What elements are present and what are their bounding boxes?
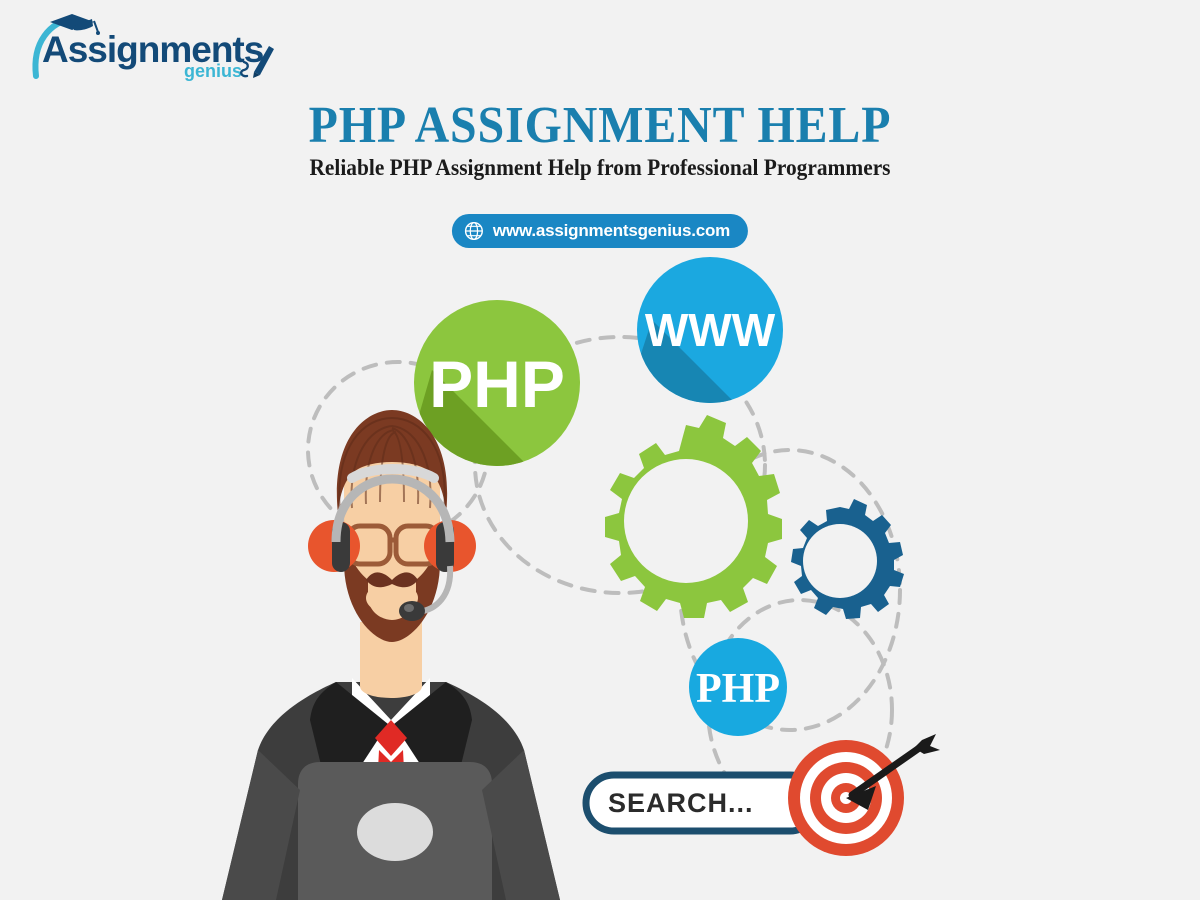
php-blue-label: PHP [696,666,780,712]
gear-large-green [605,415,782,618]
support-agent-php-illustration: PHP WWW [0,250,1200,900]
php-blue-circle: PHP [689,638,787,736]
www-label: WWW [645,304,776,356]
assignments-genius-logo[interactable]: Assignments genius [22,6,282,84]
globe-icon [464,221,484,241]
support-agent-character [222,410,560,900]
search-bar[interactable]: SEARCH... [586,775,818,831]
laptop-logo [357,803,433,861]
page-title: PHP ASSIGNMENT HELP [48,96,1152,155]
poster-canvas: Assignments genius PHP ASSIGNMENT HELP R… [0,0,1200,900]
page-subtitle: Reliable PHP Assignment Help from Profes… [42,155,1158,181]
website-url-text: www.assignmentsgenius.com [493,221,730,241]
mic-highlight [404,604,414,612]
php-green-label: PHP [429,347,565,421]
website-url-badge[interactable]: www.assignmentsgenius.com [452,214,748,248]
search-bar-text: SEARCH... [608,788,754,818]
logo-secondary-text: genius [184,61,242,81]
